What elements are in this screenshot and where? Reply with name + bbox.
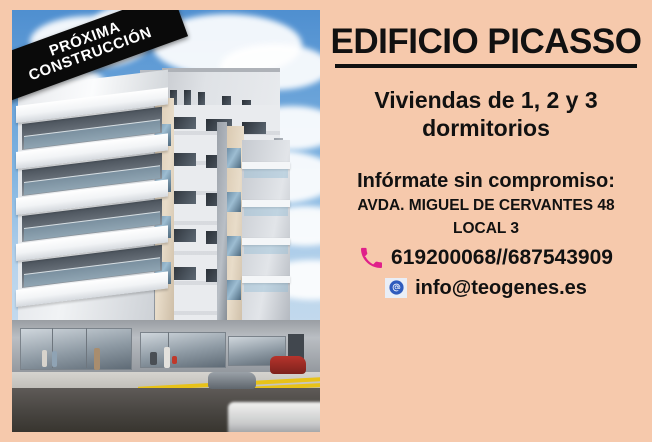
building-pier — [217, 122, 227, 324]
window — [227, 236, 241, 256]
building-right-wing — [242, 140, 290, 322]
parked-car — [208, 372, 256, 389]
address-line-1: AVDA. MIGUEL DE CERVANTES 48 — [336, 197, 636, 216]
phone-row[interactable]: 619200068//687543909 — [330, 246, 642, 270]
balcony-slab — [242, 162, 290, 169]
balcony-slab — [242, 200, 290, 207]
balcony-glass-rail — [244, 245, 288, 254]
shopping-bag — [172, 356, 177, 364]
window — [227, 148, 241, 168]
subheadline: Viviendas de 1, 2 y 3 dormitorios — [336, 86, 636, 142]
email-row[interactable]: info@teogenes.es — [330, 278, 642, 298]
pedestrian — [164, 347, 170, 368]
phone-icon — [359, 246, 383, 270]
balcony-glass-rail — [244, 169, 288, 178]
info-pane: EDIFICIO PICASSO Viviendas de 1, 2 y 3 d… — [320, 0, 652, 442]
building-stone-pilaster — [224, 126, 244, 322]
shopfront-mullion — [86, 328, 87, 368]
shopfront-window — [20, 328, 132, 370]
email-icon — [385, 278, 407, 298]
pedestrian — [94, 348, 100, 370]
cta-text: Infórmate sin compromiso: — [330, 170, 642, 193]
moving-car — [228, 402, 320, 432]
building-render-photo: PRÓXIMA CONSTRUCCIÓN — [12, 10, 320, 432]
window — [227, 280, 241, 300]
email-address[interactable]: info@teogenes.es — [415, 278, 587, 298]
address-line-2: LOCAL 3 — [336, 220, 636, 239]
page-title: EDIFICIO PICASSO — [330, 24, 642, 59]
balcony-slab — [242, 276, 290, 283]
parked-car — [270, 356, 306, 374]
balcony-slab — [242, 238, 290, 245]
window — [227, 192, 241, 212]
pedestrian — [42, 350, 47, 367]
window — [242, 122, 266, 134]
pedestrian — [52, 351, 57, 367]
advertisement: PRÓXIMA CONSTRUCCIÓN EDIFICIO PICASSO Vi… — [0, 0, 652, 442]
balcony-glass-rail — [244, 283, 288, 292]
title-underline — [335, 64, 637, 68]
window — [184, 90, 191, 106]
photo-pane: PRÓXIMA CONSTRUCCIÓN — [0, 0, 320, 442]
bicycle — [150, 352, 157, 365]
phone-number[interactable]: 619200068//687543909 — [391, 247, 613, 268]
balcony-glass-rail — [244, 207, 288, 216]
